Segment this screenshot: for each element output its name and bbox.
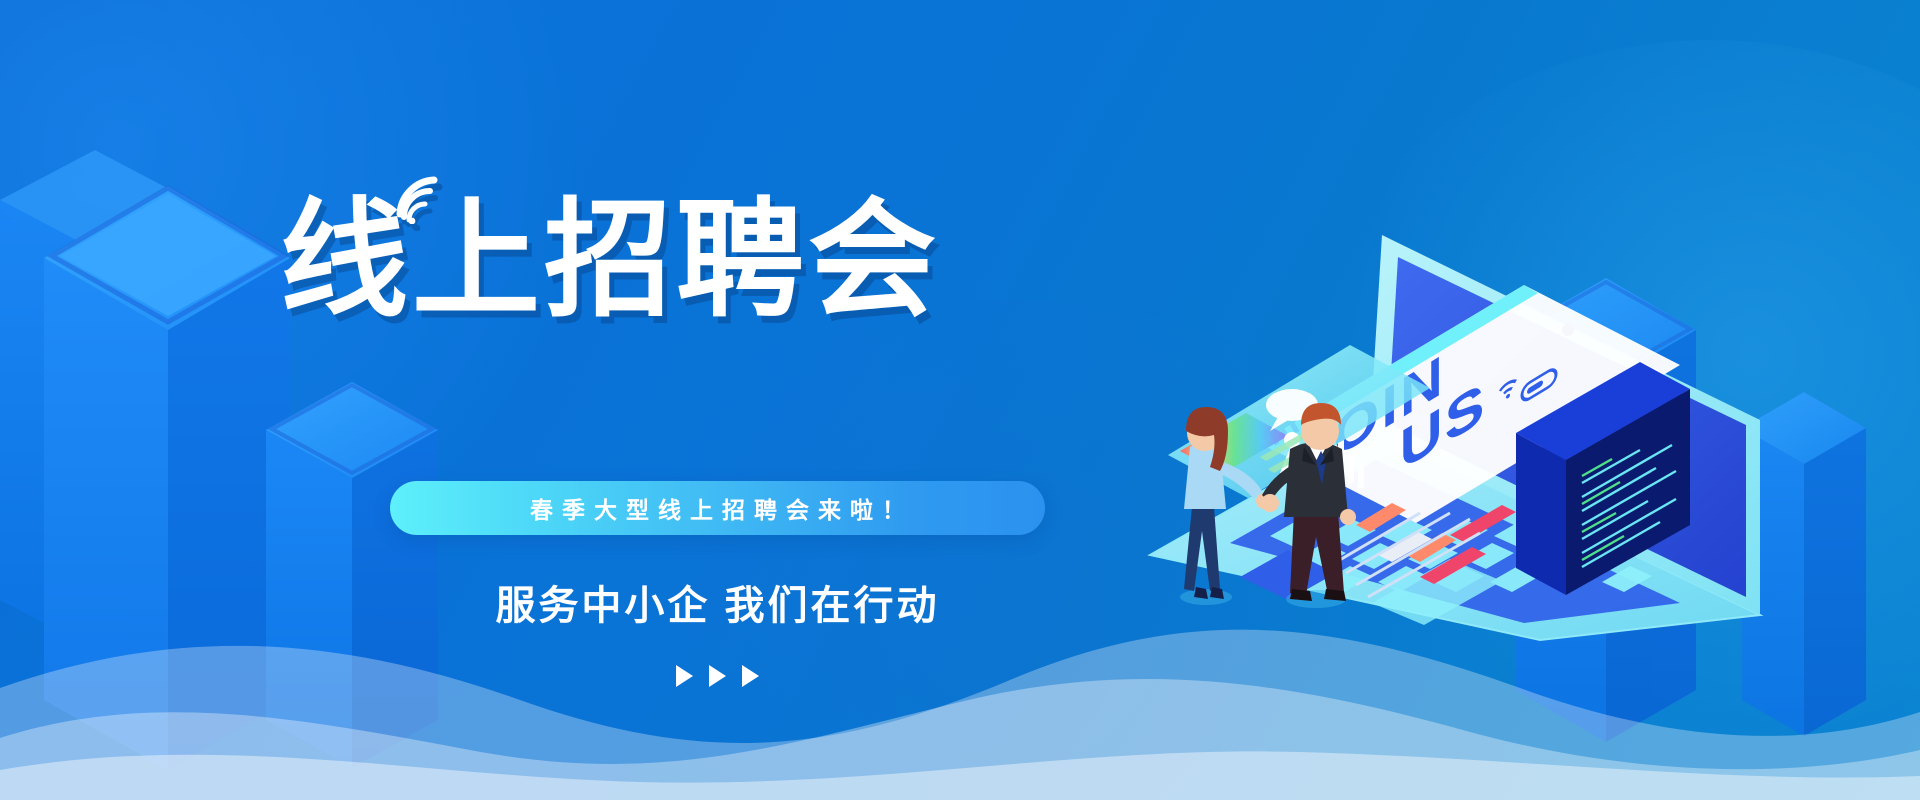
- headline-text: 线上招聘会: [280, 189, 940, 332]
- banner-root: JOIN US: [0, 0, 1920, 800]
- headline-title: 线上招聘会: [280, 186, 1080, 336]
- subtitle-pill: 春季大型线上招聘会来啦！: [390, 481, 1045, 535]
- wave-decoration: [0, 570, 1920, 800]
- wifi-icon: [392, 174, 444, 224]
- subtitle-text: 春季大型线上招聘会来啦！: [521, 491, 914, 525]
